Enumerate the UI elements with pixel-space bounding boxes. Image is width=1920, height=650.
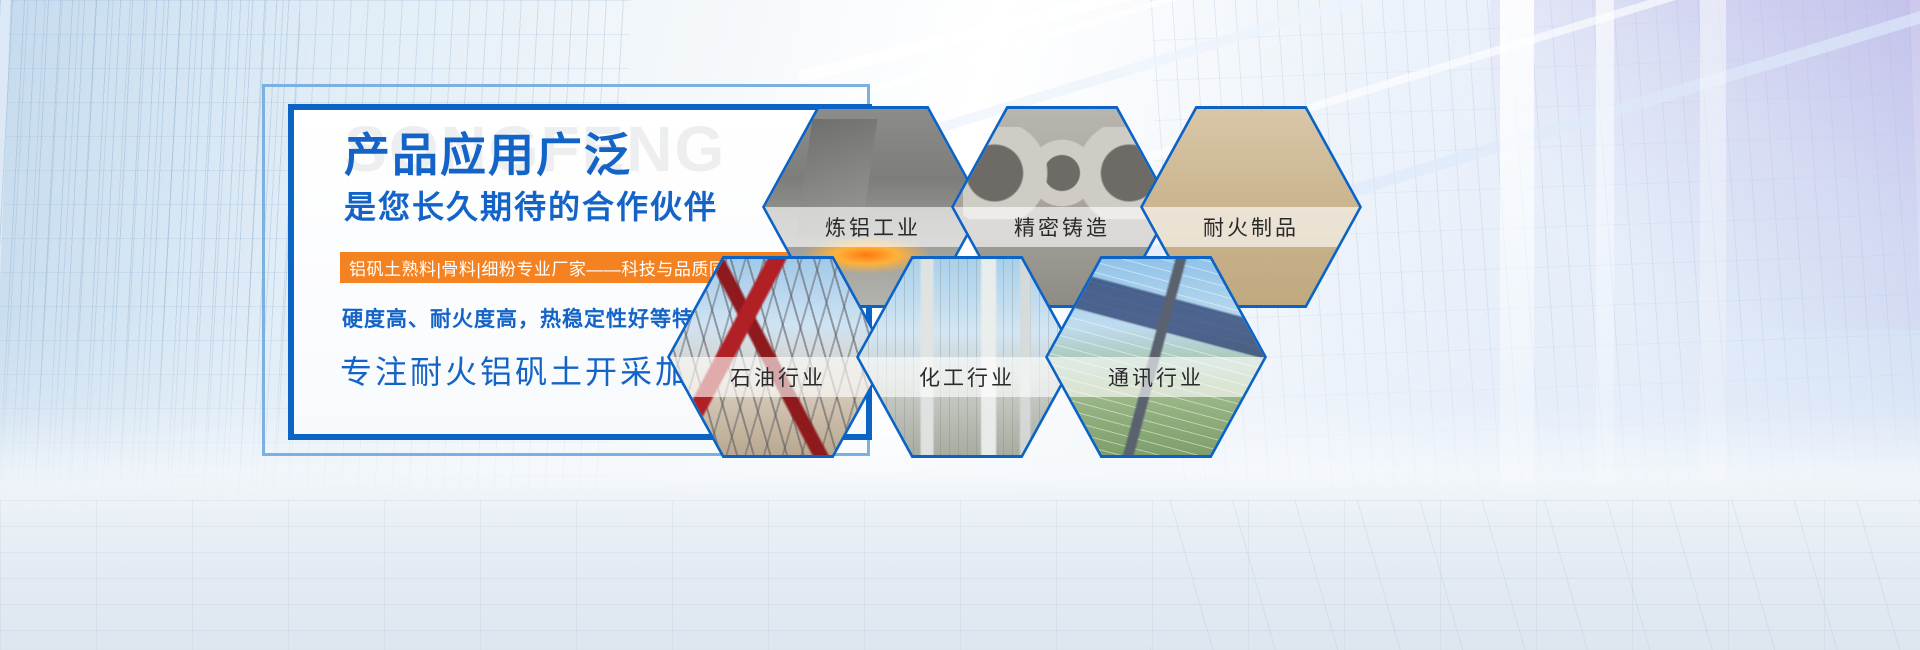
left-glass-building-detail [0, 0, 300, 520]
tagline-text: 铝矾土熟料|骨料|细粉专业厂家——科技与品质同行 [340, 255, 744, 280]
hex-label-chemical: 化工行业 [859, 357, 1075, 397]
headline-text: 产品应用广泛 [344, 131, 632, 181]
hex-label-telecom: 通讯行业 [1048, 357, 1264, 397]
focus-text: 专注耐火铝矾土开采加工 [340, 347, 725, 393]
feature-text: 硬度高、耐火度高，热稳定性好等特性 [342, 303, 716, 333]
vertical-light-beam-1 [1500, 0, 1534, 540]
hex-label-casting: 精密铸造 [954, 207, 1170, 247]
hex-label-refractory: 耐火制品 [1143, 207, 1359, 247]
floor-perspective-lines [1150, 500, 1920, 650]
vertical-light-beam-2 [1596, 0, 1614, 540]
hex-label-aluminum: 炼铝工业 [765, 207, 981, 247]
hex-label-oil: 石油行业 [670, 357, 886, 397]
promo-banner: SONGFENG 产品应用广泛 是您长久期待的合作伙伴 铝矾土熟料|骨料|细粉专… [0, 0, 1920, 650]
vertical-light-beam-3 [1700, 0, 1726, 540]
subheadline-text: 是您长久期待的合作伙伴 [344, 190, 718, 225]
